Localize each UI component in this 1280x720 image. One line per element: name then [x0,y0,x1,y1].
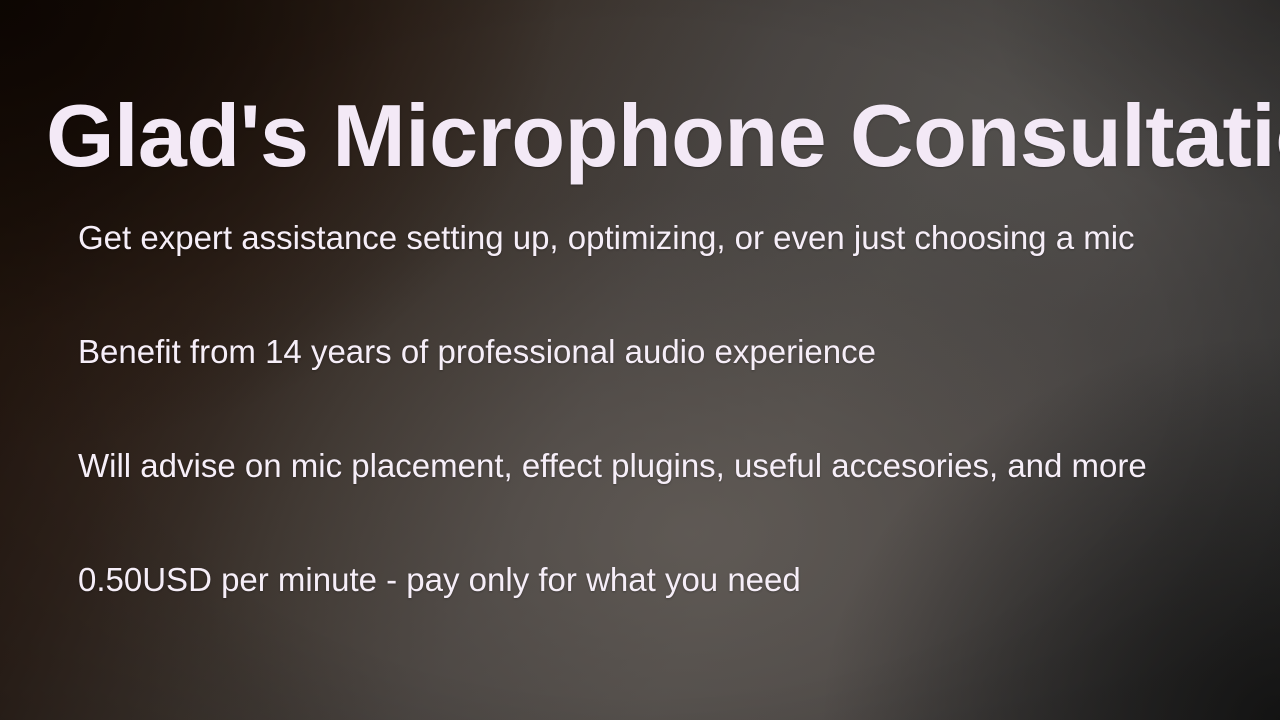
presentation-slide: Glad's Microphone Consultations Get expe… [0,0,1280,720]
bullet-item-4: 0.50USD per minute - pay only for what y… [78,561,801,600]
bullet-item-2: Benefit from 14 years of professional au… [78,333,876,372]
bullet-item-1: Get expert assistance setting up, optimi… [78,219,1135,258]
slide-content: Glad's Microphone Consultations Get expe… [0,0,1280,720]
bullet-item-3: Will advise on mic placement, effect plu… [78,447,1147,486]
slide-title: Glad's Microphone Consultations [46,92,1280,180]
